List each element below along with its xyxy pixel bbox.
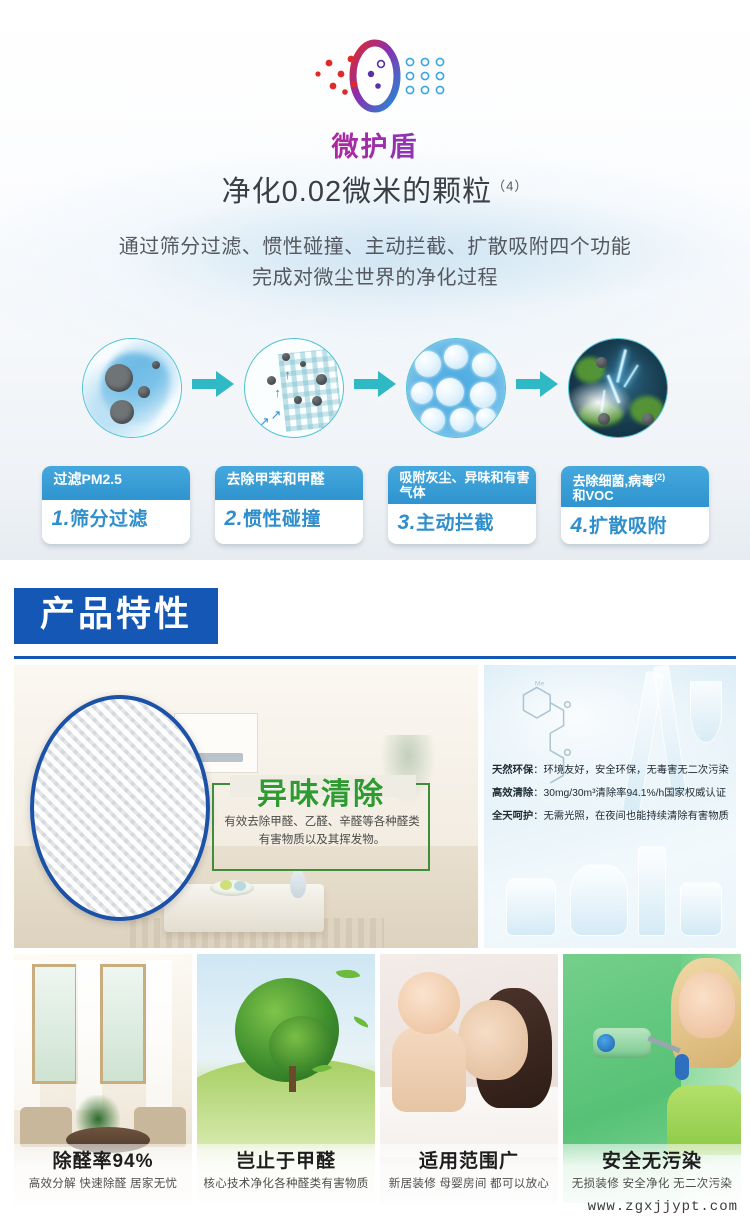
feature-card-1-title: 除醛率94% [18, 1150, 188, 1174]
step-name-1: 1.筛分过滤 [42, 500, 190, 537]
step-label-3: 主动拦截 [416, 513, 494, 534]
step-number-3: 3. [398, 511, 417, 534]
step-label-2: 惯性碰撞 [243, 509, 321, 530]
lab-certification-panel: Me 天然环保：环境友好，安全环保，无毒害无二次污染 高效清除：30mg/30m… [484, 665, 736, 948]
step-card-1[interactable]: 过滤PM2.5 1.筛分过滤 [42, 466, 190, 544]
odor-removal-panel: 异味清除 有效去除甲醛、乙醛、辛醛等各种醛类 有害物质以及其挥发物。 [14, 665, 478, 948]
step-benefit-4-superscript: (2) [654, 472, 665, 482]
feature-card-2-caption: 岂止于甲醛 核心技术净化各种醛类有害物质 [197, 1144, 375, 1203]
step-name-3: 3.主动拦截 [388, 504, 536, 541]
flow-arrow-2 [344, 333, 406, 443]
beaker-decor [690, 681, 722, 743]
step-label-4: 扩散吸附 [589, 516, 667, 537]
step-illustration-2: ↑ ↑ ↗ ↗ [244, 338, 344, 438]
lab-bullet-1-sep: ： [533, 765, 543, 776]
site-watermark: www.zgxjjypt.com [588, 1199, 738, 1215]
step-name-4: 4.扩散吸附 [561, 507, 709, 544]
leaf-icon [336, 965, 361, 983]
step-illustration-4 [568, 338, 668, 438]
feature-card-1[interactable]: 除醛率94% 高效分解 快速除醛 居家无忧 [14, 954, 192, 1203]
product-detail-page: 微护盾 净化0.02微米的颗粒（4） 通过筛分过滤、惯性碰撞、主动拦截、扩散吸附… [0, 0, 750, 1219]
lab-bullet-list: 天然环保：环境友好，安全环保，无毒害无二次污染 高效清除：30mg/30m³清除… [492, 759, 736, 828]
hero-title: 净化0.02微米的颗粒（4） [0, 168, 750, 210]
hero-title-superscript: （4） [492, 178, 528, 193]
flask-decor [680, 882, 722, 936]
step-illustration-1 [82, 338, 182, 438]
micro-shield-logo-icon [275, 36, 475, 116]
feature-card-2[interactable]: 岂止于甲醛 核心技术净化各种醛类有害物质 [197, 954, 375, 1203]
features-heading-rule [14, 656, 736, 659]
lab-bullet-2-label: 高效清除 [492, 788, 533, 799]
odor-description-line1: 有效去除甲醛、乙醛、辛醛等各种醛类 [204, 813, 440, 831]
lab-bullet-1-text: 环境友好，安全环保，无毒害无二次污染 [543, 765, 728, 776]
step-number-2: 2. [225, 507, 244, 530]
lab-bullet-2-sep: ： [533, 788, 543, 799]
step-name-2: 2.惯性碰撞 [215, 500, 363, 537]
hero-title-text: 净化0.02微米的颗粒 [222, 176, 492, 208]
step-card-2[interactable]: 去除甲苯和甲醛 2.惯性碰撞 [215, 466, 363, 544]
process-step-cards: 过滤PM2.5 1.筛分过滤 去除甲苯和甲醛 2.惯性碰撞 吸附灰尘、异味和有害… [0, 466, 750, 546]
hero-subtitle: 通过筛分过滤、惯性碰撞、主动拦截、扩散吸附四个功能 完成对微尘世界的净化过程 [0, 232, 750, 294]
feature-card-4-subtitle: 无损装修 安全净化 无二次污染 [567, 1175, 737, 1193]
step-benefit-4-tail: 和VOC [573, 488, 614, 503]
odor-description: 有效去除甲醛、乙醛、辛醛等各种醛类 有害物质以及其挥发物。 [204, 813, 440, 849]
features-top-row: 异味清除 有效去除甲醛、乙醛、辛醛等各种醛类 有害物质以及其挥发物。 [14, 665, 736, 948]
feature-card-1-caption: 除醛率94% 高效分解 快速除醛 居家无忧 [14, 1144, 192, 1203]
features-bottom-row: 除醛率94% 高效分解 快速除醛 居家无忧 岂止于甲醛 核心技术净化各种醛类有害… [14, 954, 736, 1203]
feature-card-2-subtitle: 核心技术净化各种醛类有害物质 [201, 1175, 371, 1193]
step-number-1: 1. [52, 507, 71, 530]
leaf-icon [352, 1016, 369, 1027]
feature-card-4[interactable]: 安全无污染 无损装修 安全净化 无二次污染 [563, 954, 741, 1203]
hero-subtitle-line2: 完成对微尘世界的净化过程 [0, 263, 750, 294]
flask-decor [570, 864, 628, 936]
flow-arrow-1 [182, 333, 244, 443]
step-benefit-1: 过滤PM2.5 [42, 466, 190, 500]
feature-card-3-caption: 适用范围广 新居装修 母婴房间 都可以放心 [380, 1144, 558, 1203]
lab-bullet-3: 全天呵护：无需光照，在夜间也能持续清除有害物质 [492, 805, 736, 828]
step-benefit-2: 去除甲苯和甲醛 [215, 466, 363, 500]
svg-text:Me: Me [535, 680, 545, 687]
flask-decor [506, 878, 556, 936]
feature-card-2-title: 岂止于甲醛 [201, 1150, 371, 1174]
odor-title: 异味清除 [212, 769, 430, 813]
lab-bullet-3-sep: ： [533, 811, 543, 822]
step-card-3[interactable]: 吸附灰尘、异味和有害气体 3.主动拦截 [388, 466, 536, 544]
step-benefit-3: 吸附灰尘、异味和有害气体 [388, 466, 536, 504]
feature-card-4-title: 安全无污染 [567, 1150, 737, 1174]
features-heading: 产品特性 [14, 588, 218, 644]
step-label-1: 筛分过滤 [70, 509, 148, 530]
arrow-right-icon [192, 371, 234, 397]
feature-card-1-subtitle: 高效分解 快速除醛 居家无忧 [18, 1175, 188, 1193]
feature-card-3-title: 适用范围广 [384, 1150, 554, 1174]
feature-card-3[interactable]: 适用范围广 新居装修 母婴房间 都可以放心 [380, 954, 558, 1203]
lab-bullet-2-text: 30mg/30m³清除率94.1%/h国家权威认证 [543, 788, 726, 799]
feature-card-3-subtitle: 新居装修 母婴房间 都可以放心 [384, 1175, 554, 1193]
feature-card-4-caption: 安全无污染 无损装修 安全净化 无二次污染 [563, 1144, 741, 1203]
arrow-right-icon [354, 371, 396, 397]
step-illustration-3 [406, 338, 506, 438]
flask-decor [638, 846, 666, 936]
product-features-section: 产品特性 异味清除 有效去除甲醛、乙醛、辛醛等各种醛类 有害物质以及其挥发物。 [0, 560, 750, 1219]
step-benefit-4-main: 去除细菌,病毒 [573, 473, 655, 488]
step-benefit-4: 去除细菌,病毒(2) 和VOC [561, 466, 709, 507]
flow-arrow-3 [506, 333, 568, 443]
lab-bullet-3-label: 全天呵护 [492, 811, 533, 822]
brand-name: 微护盾 [0, 125, 750, 164]
lab-bullet-1: 天然环保：环境友好，安全环保，无毒害无二次污染 [492, 759, 736, 782]
hero-subtitle-line1: 通过筛分过滤、惯性碰撞、主动拦截、扩散吸附四个功能 [0, 232, 750, 263]
lab-bullet-3-text: 无需光照，在夜间也能持续清除有害物质 [543, 811, 728, 822]
filtration-hero-section: 微护盾 净化0.02微米的颗粒（4） 通过筛分过滤、惯性碰撞、主动拦截、扩散吸附… [0, 0, 750, 560]
process-illustration-row: ↑ ↑ ↗ ↗ [0, 333, 750, 443]
lab-bullet-1-label: 天然环保 [492, 765, 533, 776]
lab-bullet-2: 高效清除：30mg/30m³清除率94.1%/h国家权威认证 [492, 782, 736, 805]
step-number-4: 4. [571, 514, 590, 537]
fabric-texture-circle-icon [30, 695, 210, 921]
step-card-4[interactable]: 去除细菌,病毒(2) 和VOC 4.扩散吸附 [561, 466, 709, 544]
brand-logo [0, 36, 750, 116]
odor-description-line2: 有害物质以及其挥发物。 [204, 831, 440, 849]
arrow-right-icon [516, 371, 558, 397]
